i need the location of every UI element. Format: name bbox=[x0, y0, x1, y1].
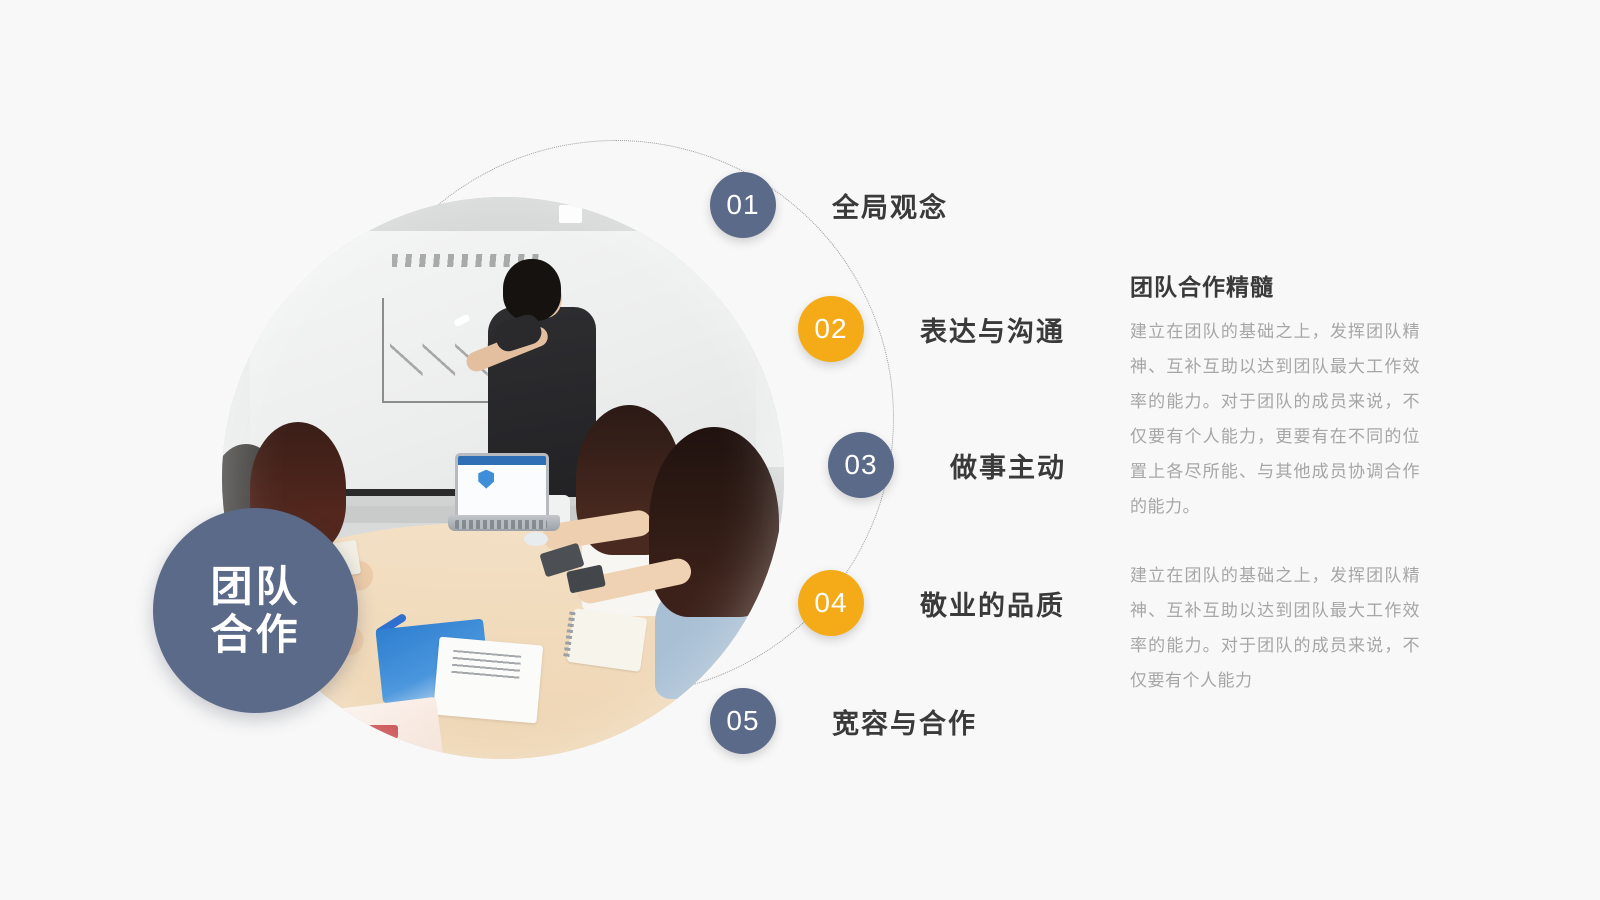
ceiling-light bbox=[559, 205, 581, 223]
description-panel: 团队合作精髓 建立在团队的基础之上，发挥团队精神、互补互助以达到团队最大工作效率… bbox=[1130, 268, 1420, 698]
step-item-02[interactable]: 02 表达与沟通 bbox=[798, 296, 1065, 362]
step-item-01[interactable]: 01 全局观念 bbox=[710, 172, 948, 238]
paper-bag-logo bbox=[368, 725, 398, 739]
panel-paragraph-1: 建立在团队的基础之上，发挥团队精神、互补互助以达到团队最大工作效率的能力。对于团… bbox=[1130, 314, 1420, 524]
step-item-03[interactable]: 03 做事主动 bbox=[828, 432, 1066, 498]
step-number-circle-02[interactable]: 02 bbox=[798, 296, 864, 362]
paper-documents bbox=[432, 637, 542, 724]
main-topic-badge[interactable]: 团队 合作 bbox=[153, 508, 358, 713]
step-label-04: 敬业的品质 bbox=[920, 584, 1065, 623]
panel-title: 团队合作精髓 bbox=[1130, 268, 1420, 302]
laptop-screen bbox=[455, 453, 549, 519]
step-number-circle-01[interactable]: 01 bbox=[710, 172, 776, 238]
step-label-02: 表达与沟通 bbox=[920, 310, 1065, 349]
step-label-05: 宽容与合作 bbox=[832, 702, 977, 741]
circular-infographic: 团队 合作 01 全局观念 02 表达与沟通 03 做事主动 04 敬业的品质 … bbox=[0, 0, 960, 900]
step-label-01: 全局观念 bbox=[832, 186, 948, 225]
laptop-screen-content bbox=[458, 465, 546, 519]
step-item-05[interactable]: 05 宽容与合作 bbox=[710, 688, 977, 754]
step-number-circle-05[interactable]: 05 bbox=[710, 688, 776, 754]
spiral-notebook bbox=[567, 608, 648, 672]
step-item-04[interactable]: 04 敬业的品质 bbox=[798, 570, 1065, 636]
step-number-circle-03[interactable]: 03 bbox=[828, 432, 894, 498]
laptop-screen-titlebar bbox=[458, 456, 546, 465]
main-topic-line2: 合作 bbox=[210, 611, 300, 658]
step-number-circle-04[interactable]: 04 bbox=[798, 570, 864, 636]
step-label-03: 做事主动 bbox=[950, 446, 1066, 485]
laptop-keyboard bbox=[455, 520, 547, 529]
person-right-hair bbox=[649, 427, 779, 617]
slide-canvas: 团队 合作 01 全局观念 02 表达与沟通 03 做事主动 04 敬业的品质 … bbox=[0, 0, 1600, 900]
main-topic-line1: 团队 bbox=[210, 563, 300, 610]
presenter-hair bbox=[503, 259, 561, 321]
panel-paragraph-2: 建立在团队的基础之上，发挥团队精神、互补互助以达到团队最大工作效率的能力。对于团… bbox=[1130, 558, 1420, 698]
